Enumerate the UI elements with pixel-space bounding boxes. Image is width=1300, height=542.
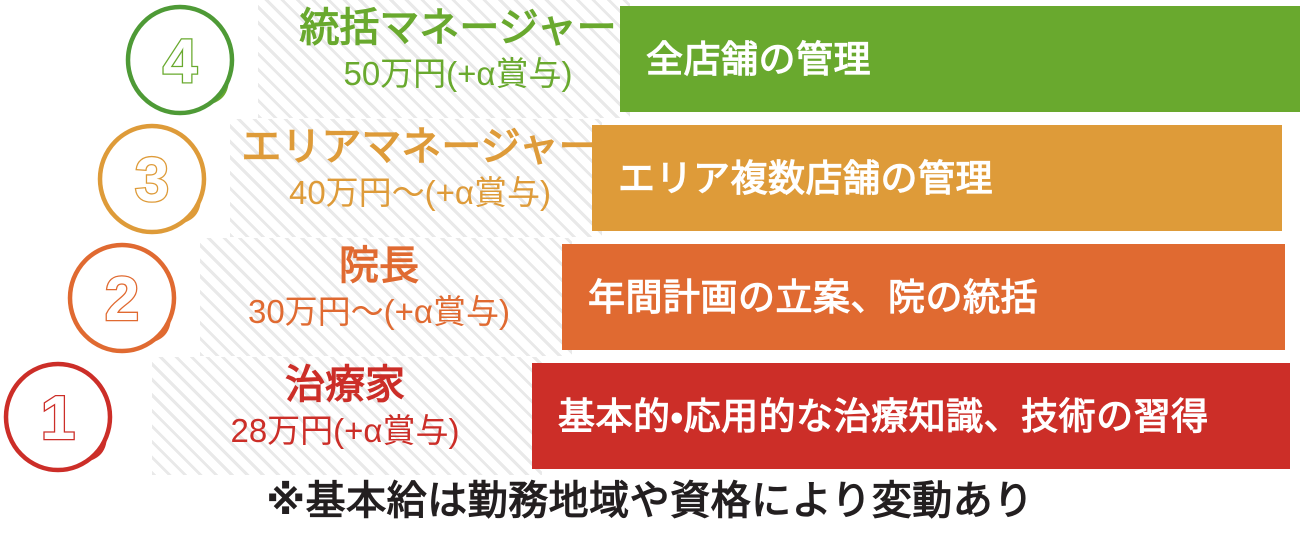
badge-number-2: 2 — [105, 265, 139, 334]
level-badge-3: 3 — [96, 123, 208, 235]
duty-bar-level-2: 年間計画の立案、院の統括 — [562, 244, 1285, 350]
ladder-level-4: 全店舗の管理 統括マネージャー 50万円(+α賞与) 4 — [0, 0, 1300, 120]
role-salary-level-4: 50万円(+α賞与) — [258, 57, 658, 90]
role-block-level-2: 院長 30万円〜(+α賞与) — [186, 246, 572, 328]
duty-bar-level-4: 全店舗の管理 — [620, 6, 1300, 112]
level-badge-2: 2 — [66, 242, 178, 354]
ladder-level-1: 基本的・応用的な治療知識、技術の習得 治療家 28万円(+α賞与) 1 — [0, 357, 1300, 477]
badge-number-4: 4 — [163, 27, 198, 96]
role-salary-level-3: 40万円〜(+α賞与) — [220, 176, 620, 209]
role-title-level-4: 統括マネージャー — [258, 8, 658, 48]
badge-number-1: 1 — [41, 384, 75, 453]
footnote-text: ※基本給は勤務地域や資格により変動あり — [0, 481, 1300, 521]
role-salary-level-1: 28万円(+α賞与) — [152, 414, 538, 447]
role-title-level-2: 院長 — [186, 246, 572, 286]
level-badge-4: 4 — [124, 4, 236, 116]
duty-bar-level-1: 基本的・応用的な治療知識、技術の習得 — [532, 363, 1290, 469]
role-salary-level-2: 30万円〜(+α賞与) — [186, 295, 572, 328]
role-block-level-1: 治療家 28万円(+α賞与) — [152, 365, 538, 447]
role-title-level-1: 治療家 — [152, 365, 538, 405]
duty-text-level-3: エリア複数店舗の管理 — [592, 160, 993, 197]
role-block-level-4: 統括マネージャー 50万円(+α賞与) — [258, 8, 658, 90]
ladder-level-2: 年間計画の立案、院の統括 院長 30万円〜(+α賞与) 2 — [0, 238, 1300, 358]
level-badge-1: 1 — [2, 361, 114, 473]
ladder-level-3: エリア複数店舗の管理 エリアマネージャー 40万円〜(+α賞与) 3 — [0, 119, 1300, 239]
duty-bar-level-3: エリア複数店舗の管理 — [592, 125, 1282, 231]
career-ladder-diagram: 全店舗の管理 統括マネージャー 50万円(+α賞与) 4 エリア複数店舗の管理 … — [0, 0, 1300, 542]
duty-text-level-1: 基本的・応用的な治療知識、技術の習得 — [532, 398, 1209, 435]
badge-number-3: 3 — [135, 146, 169, 215]
role-title-level-3: エリアマネージャー — [220, 127, 620, 167]
duty-text-level-2: 年間計画の立案、院の統括 — [562, 279, 1038, 316]
role-block-level-3: エリアマネージャー 40万円〜(+α賞与) — [220, 127, 620, 209]
